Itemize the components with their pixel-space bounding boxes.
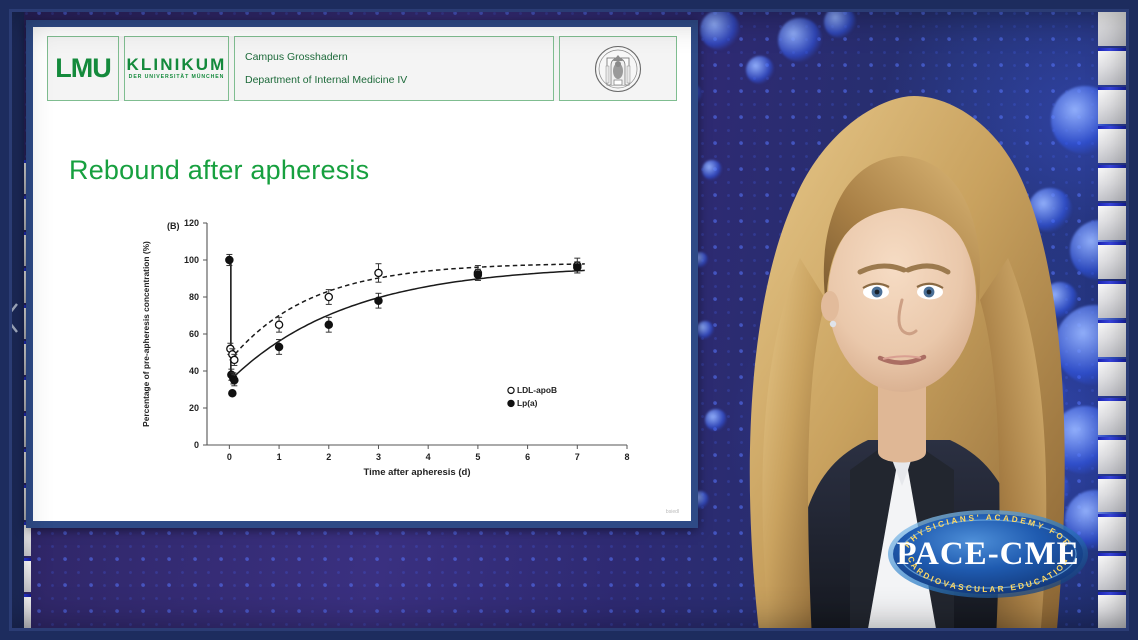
klinikum-subtitle: DER UNIVERSITÄT MÜNCHEN: [129, 75, 225, 80]
svg-text:0: 0: [227, 452, 232, 462]
campus-box: Campus Grosshadern Department of Interna…: [234, 36, 554, 101]
svg-text:1: 1: [277, 452, 282, 462]
svg-text:80: 80: [189, 292, 199, 302]
logo-wordmark: PACE-CME: [896, 536, 1079, 572]
svg-text:4: 4: [426, 452, 431, 462]
prev-slide-button[interactable]: [0, 0, 24, 640]
svg-text:7: 7: [575, 452, 580, 462]
slide-footer-note: bsiedl: [666, 509, 679, 515]
svg-text:100: 100: [184, 255, 199, 265]
rebound-chart: 020406080100120012345678Time after apher…: [129, 205, 639, 500]
slide-content: LMU KLINIKUM DER UNIVERSITÄT MÜNCHEN Cam…: [33, 27, 691, 521]
slide-header: LMU KLINIKUM DER UNIVERSITÄT MÜNCHEN Cam…: [47, 36, 677, 101]
klinikum-logo-box: KLINIKUM DER UNIVERSITÄT MÜNCHEN: [124, 36, 229, 101]
svg-text:2: 2: [326, 452, 331, 462]
slide-frame: LMU KLINIKUM DER UNIVERSITÄT MÜNCHEN Cam…: [26, 20, 698, 528]
university-seal-icon: [594, 45, 642, 93]
klinikum-title: KLINIKUM: [127, 56, 227, 73]
svg-text:LDL-apoB: LDL-apoB: [517, 385, 557, 395]
svg-text:40: 40: [189, 366, 199, 376]
svg-text:(B): (B): [167, 221, 180, 231]
lmu-logo-text: LMU: [55, 55, 110, 82]
svg-text:6: 6: [525, 452, 530, 462]
svg-text:60: 60: [189, 329, 199, 339]
lmu-logo-box: LMU: [47, 36, 119, 101]
svg-text:3: 3: [376, 452, 381, 462]
slide-title: Rebound after apheresis: [69, 155, 369, 186]
campus-line-2: Department of Internal Medicine IV: [245, 69, 407, 91]
svg-text:Lp(a): Lp(a): [517, 398, 538, 408]
svg-text:0: 0: [194, 440, 199, 450]
seal-box: [559, 36, 677, 101]
svg-text:Percentage of pre-apheresis co: Percentage of pre-apheresis concentratio…: [141, 241, 151, 427]
chart-svg: 020406080100120012345678Time after apher…: [129, 205, 639, 500]
svg-text:5: 5: [475, 452, 480, 462]
svg-text:20: 20: [189, 403, 199, 413]
chevron-left-icon: [3, 301, 21, 340]
pace-cme-logo: PHYSICIANS' ACADEMY FOR CARDIOVASCULAR E…: [884, 508, 1092, 600]
campus-line-1: Campus Grosshadern: [245, 46, 348, 68]
svg-text:8: 8: [624, 452, 629, 462]
right-band-panel: [1098, 9, 1128, 631]
svg-text:Time after apheresis (d): Time after apheresis (d): [363, 467, 470, 478]
svg-text:120: 120: [184, 218, 199, 228]
